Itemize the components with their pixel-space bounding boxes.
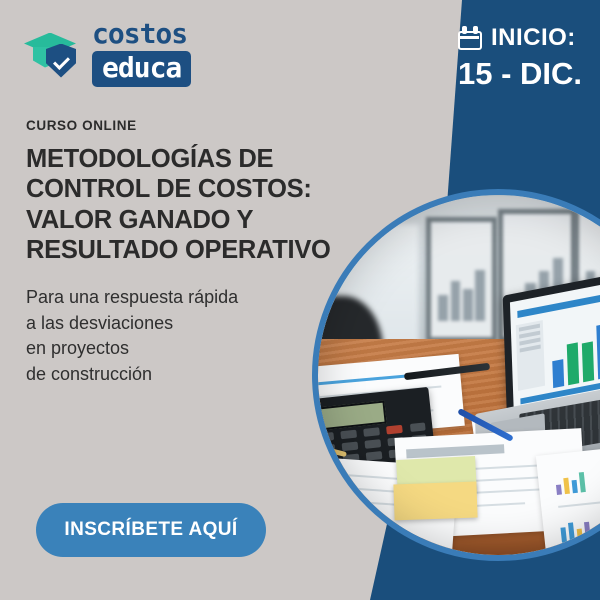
shield-check-icon xyxy=(46,44,76,78)
eyebrow-label: CURSO ONLINE xyxy=(26,118,356,133)
enroll-cta-button[interactable]: INSCRÍBETE AQUÍ xyxy=(36,503,266,557)
subcopy-line-3: en proyectos xyxy=(26,336,356,362)
headline-line-3: VALOR GANADO Y xyxy=(26,205,356,235)
start-date-value: 15 - DIC. xyxy=(458,56,582,92)
subcopy-line-4: de construcción xyxy=(26,362,356,388)
headline-line-2: CONTROL DE COSTOS: xyxy=(26,174,356,204)
logo-word-costos: costos xyxy=(92,20,191,48)
subcopy-line-2: a las desviaciones xyxy=(26,311,356,337)
logo-wordmark: costos educa xyxy=(92,20,191,87)
brand-logo[interactable]: costos educa xyxy=(24,20,191,87)
subcopy-line-1: Para una respuesta rápida xyxy=(26,285,356,311)
course-ad-banner: costos educa INICIO: 15 - DIC. CURSO ONL… xyxy=(0,0,600,600)
start-date-badge: INICIO: 15 - DIC. xyxy=(458,24,582,92)
course-copy-block: CURSO ONLINE METODOLOGÍAS DE CONTROL DE … xyxy=(26,118,356,388)
logo-word-educa: educa xyxy=(92,51,191,87)
course-subcopy: Para una respuesta rápida a las desviaci… xyxy=(26,285,356,387)
headline-line-1: METODOLOGÍAS DE xyxy=(26,144,356,174)
start-date-row: INICIO: xyxy=(458,24,582,52)
calendar-icon xyxy=(458,26,482,50)
graduation-cap-shield-check-icon xyxy=(24,27,82,81)
start-date-label: INICIO: xyxy=(491,24,576,52)
page-title: METODOLOGÍAS DE CONTROL DE COSTOS: VALOR… xyxy=(26,144,356,265)
photo-inner xyxy=(318,195,600,555)
headline-line-4: RESULTADO OPERATIVO xyxy=(26,235,356,265)
